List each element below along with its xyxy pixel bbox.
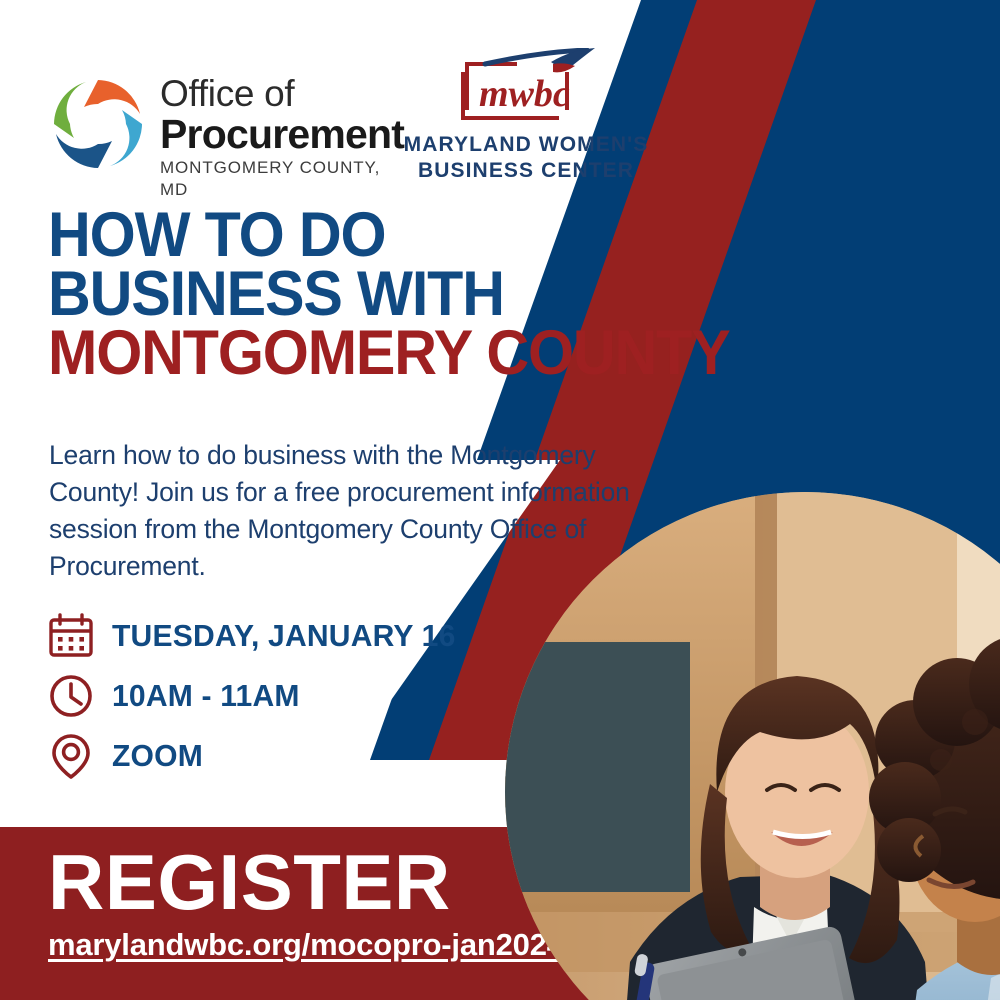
- office-of-procurement-logo: Office of Procurement MONTGOMERY COUNTY,…: [48, 72, 388, 180]
- detail-location-text: ZOOM: [112, 738, 203, 774]
- description-paragraph: Learn how to do business with the Montgo…: [49, 437, 674, 585]
- headline-line-2: BUSINESS WITH: [48, 265, 730, 324]
- mwbc-line-1: MARYLAND WOMEN'S: [400, 132, 652, 158]
- pinwheel-ring-icon: [48, 74, 148, 174]
- mwbc-script-text: mwbc: [479, 73, 570, 115]
- detail-row-time: 10AM - 11AM: [48, 668, 466, 724]
- register-block: REGISTER marylandwbc.org/mocopro-jan2024: [48, 843, 564, 965]
- location-pin-icon: [48, 733, 94, 779]
- register-heading: REGISTER: [48, 843, 564, 921]
- detail-row-location: ZOOM: [48, 728, 466, 784]
- mwbc-line-2: BUSINESS CENTER: [400, 158, 652, 184]
- logo-row: Office of Procurement MONTGOMERY COUNTY,…: [0, 0, 1000, 190]
- event-details: TUESDAY, JANUARY 16 10AM - 11AM ZOOM: [48, 608, 466, 788]
- mwbc-bird-bracket-icon: mwbc: [455, 48, 600, 128]
- clock-icon: [48, 673, 94, 719]
- logo-line-office-of: Office of: [160, 74, 404, 113]
- logo-line-county: MONTGOMERY COUNTY, MD: [160, 157, 404, 201]
- mwbc-logo: mwbc MARYLAND WOMEN'S BUSINESS CENTER: [400, 48, 652, 180]
- detail-date-text: TUESDAY, JANUARY 16: [112, 618, 455, 654]
- headline-line-3: MONTGOMERY COUNTY: [48, 324, 730, 383]
- detail-time-text: 10AM - 11AM: [112, 678, 300, 714]
- procurement-wordmark: Office of Procurement MONTGOMERY COUNTY,…: [160, 74, 404, 201]
- calendar-icon: [48, 613, 94, 659]
- headline-line-1: HOW TO DO: [48, 206, 730, 265]
- detail-row-date: TUESDAY, JANUARY 16: [48, 608, 466, 664]
- page-title: HOW TO DO BUSINESS WITH MONTGOMERY COUNT…: [48, 206, 773, 383]
- flyer-canvas: Office of Procurement MONTGOMERY COUNTY,…: [0, 0, 1000, 1000]
- registration-link[interactable]: marylandwbc.org/mocopro-jan2024: [48, 925, 564, 965]
- logo-line-procurement: Procurement: [160, 113, 404, 156]
